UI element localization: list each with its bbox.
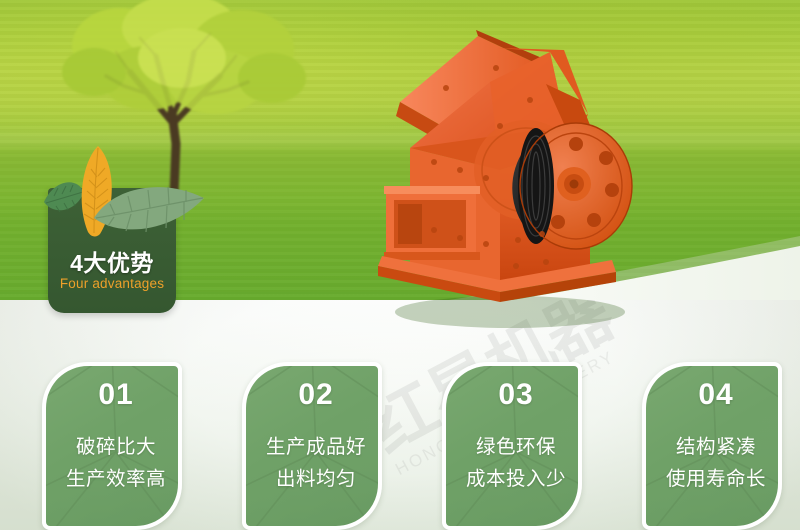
card-line-2: 生产效率高 [46,462,182,491]
advantage-card[interactable]: 02 生产成品好 出料均匀 [242,362,382,530]
card-number: 03 [446,378,582,412]
advantage-card[interactable]: 03 绿色环保 成本投入少 [442,362,582,530]
card-line-1: 破碎比大 [46,430,182,459]
card-line-1: 结构紧凑 [646,430,782,459]
advantage-cards: 01 破碎比大 生产效率高 02 [0,0,800,530]
card-leaf-shape: 04 结构紧凑 使用寿命长 [642,362,782,530]
card-leaf-shape: 02 生产成品好 出料均匀 [242,362,382,530]
card-number: 04 [646,378,782,412]
card-line-1: 绿色环保 [446,430,582,459]
card-line-2: 出料均匀 [246,462,382,491]
card-line-2: 使用寿命长 [646,462,782,491]
card-number: 02 [246,378,382,412]
card-leaf-shape: 03 绿色环保 成本投入少 [442,362,582,530]
advantage-card[interactable]: 01 破碎比大 生产效率高 [42,362,182,530]
card-line-2: 成本投入少 [446,462,582,491]
advantage-card[interactable]: 04 结构紧凑 使用寿命长 [642,362,782,530]
card-line-1: 生产成品好 [246,430,382,459]
promo-banner: 红星机器 HONGXING MACHINERY 4大优势 Four advant… [0,0,800,530]
card-leaf-shape: 01 破碎比大 生产效率高 [42,362,182,530]
card-number: 01 [46,378,182,412]
